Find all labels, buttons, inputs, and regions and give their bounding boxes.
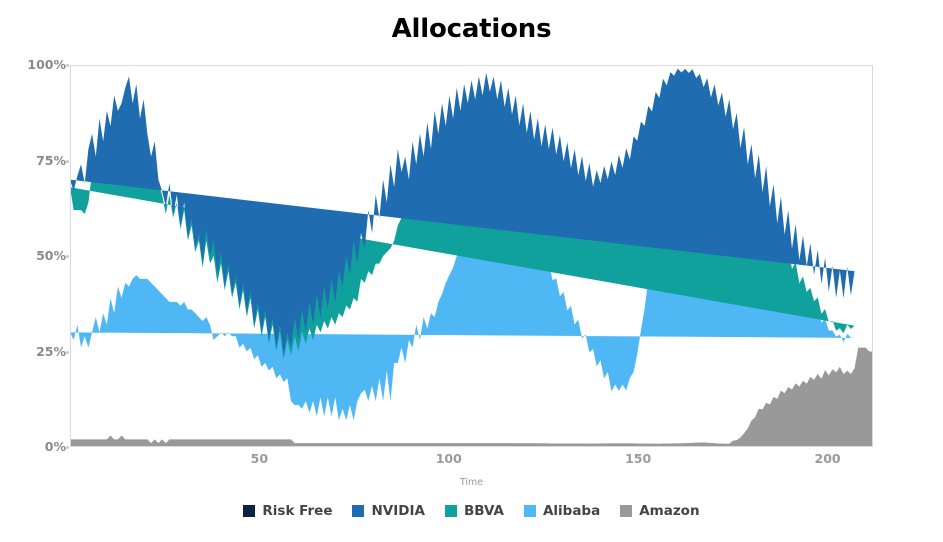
- legend-item-nvidia[interactable]: NVIDIA: [352, 503, 424, 519]
- y-axis-tick-label: 75%: [8, 153, 66, 168]
- x-axis-label: Time: [0, 477, 943, 488]
- y-axis-tick-label: 50%: [8, 248, 66, 263]
- legend-label: Amazon: [639, 503, 699, 519]
- legend-item-alibaba[interactable]: Alibaba: [524, 503, 600, 519]
- legend-item-bbva[interactable]: BBVA: [445, 503, 504, 519]
- legend-swatch-icon: [352, 505, 364, 517]
- plot-area: [70, 65, 873, 447]
- y-axis-tick-mark: [66, 446, 69, 449]
- area-series-amazon: [70, 348, 873, 447]
- chart-legend: Risk FreeNVIDIABBVAAlibabaAmazon: [0, 503, 943, 519]
- stacked-area-svg: [70, 65, 873, 447]
- chart-title: Allocations: [0, 14, 943, 44]
- y-axis-tick-label: 0%: [8, 439, 66, 454]
- y-axis-tick-label: 100%: [8, 57, 66, 72]
- legend-swatch-icon: [524, 505, 536, 517]
- legend-label: Alibaba: [543, 503, 600, 519]
- y-axis-tick-mark: [66, 255, 69, 258]
- allocations-chart: Allocations 0%25%50%75%100% 50100150200 …: [0, 0, 943, 542]
- y-axis-tick-mark: [66, 351, 69, 354]
- x-axis-tick-label: 50: [251, 451, 268, 466]
- y-axis-tick-mark: [66, 160, 69, 163]
- legend-swatch-icon: [243, 505, 255, 517]
- legend-label: Risk Free: [262, 503, 332, 519]
- legend-swatch-icon: [445, 505, 457, 517]
- legend-swatch-icon: [620, 505, 632, 517]
- legend-label: NVIDIA: [371, 503, 424, 519]
- x-axis-tick-label: 200: [815, 451, 841, 466]
- x-axis-tick-label: 100: [436, 451, 462, 466]
- x-axis-tick-label: 150: [625, 451, 651, 466]
- y-axis-tick-label: 25%: [8, 344, 66, 359]
- legend-item-risk-free[interactable]: Risk Free: [243, 503, 332, 519]
- y-axis-tick-mark: [66, 64, 69, 67]
- legend-item-amazon[interactable]: Amazon: [620, 503, 699, 519]
- legend-label: BBVA: [464, 503, 504, 519]
- y-axis: 0%25%50%75%100%: [0, 0, 66, 542]
